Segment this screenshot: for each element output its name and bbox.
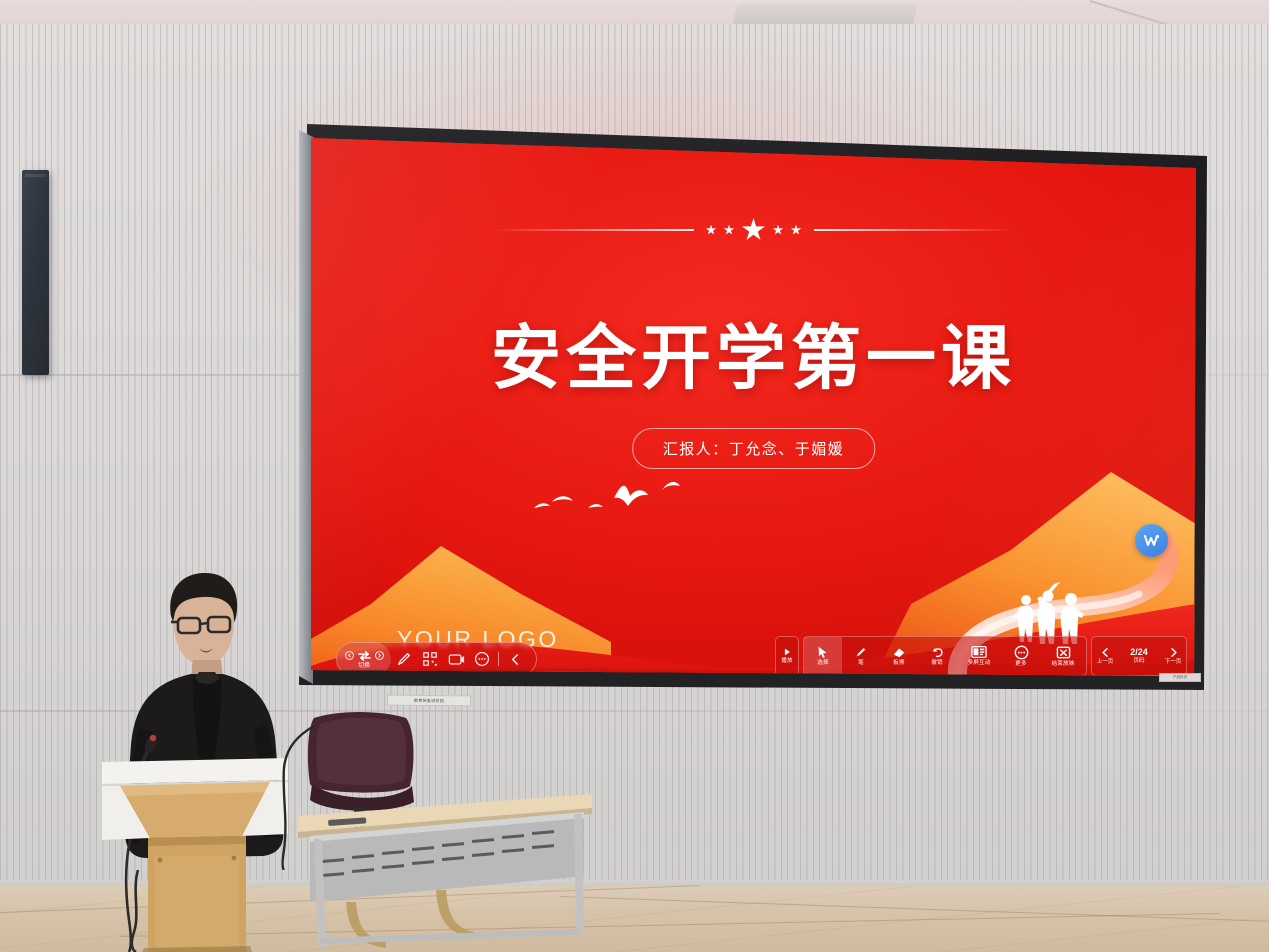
eraser-icon: [892, 645, 907, 659]
star-icon: [724, 225, 735, 236]
tool-undo-label: 撤销: [931, 661, 942, 667]
page-number: 2/24: [1130, 648, 1148, 657]
more-icon[interactable]: [469, 642, 495, 676]
conference-desk: [296, 782, 594, 952]
toolbar-divider: [498, 652, 499, 666]
chevron-left-icon: [1100, 647, 1111, 658]
tool-multiscreen-label: 多屏互动: [968, 661, 991, 667]
display-screen[interactable]: 安全开学第一课 汇报人：丁允念、于媚媛 YOUR LOGO: [311, 138, 1196, 676]
wall-speaker: [22, 170, 49, 375]
play-button[interactable]: 播放: [776, 637, 798, 675]
pen-icon: [854, 645, 868, 659]
multiscreen-icon: [971, 645, 987, 659]
bezel-label-right: 产品标识: [1159, 673, 1201, 682]
floor-cable: [118, 870, 158, 952]
tools-panel[interactable]: 选择 笔 板擦: [803, 636, 1087, 676]
chevron-right-icon[interactable]: [375, 651, 384, 660]
page-indicator[interactable]: 2/24 页码: [1118, 637, 1160, 675]
star-divider: [311, 218, 1196, 242]
star-group: [706, 218, 802, 242]
app-logo-icon[interactable]: [1135, 524, 1168, 557]
app-glyph-icon: [1142, 531, 1162, 551]
slide-title: 安全开学第一课: [311, 302, 1196, 403]
swap-arrows-icon[interactable]: [357, 650, 372, 662]
tool-undo-button[interactable]: 撤销: [918, 637, 956, 675]
presentation-slide[interactable]: 安全开学第一课 汇报人：丁允念、于媚媛 YOUR LOGO: [311, 138, 1196, 676]
next-page-button[interactable]: 下一页: [1160, 637, 1186, 675]
slide-subtitle-pill: 汇报人：丁允念、于媚媛: [632, 428, 876, 469]
chair-cable: [270, 720, 318, 870]
tool-eraser-label: 板擦: [893, 661, 904, 667]
page-indicator-label: 页码: [1133, 659, 1144, 665]
switch-source-label: 切换: [358, 663, 370, 669]
chevron-right-icon: [1168, 647, 1179, 658]
tool-select-label: 选择: [817, 661, 828, 667]
more-icon: [1014, 645, 1029, 660]
play-panel[interactable]: 播放: [775, 636, 799, 676]
play-icon: [782, 647, 792, 657]
play-label: 播放: [781, 659, 792, 665]
chevron-left-icon[interactable]: [345, 651, 354, 660]
tool-more-label: 更多: [1015, 662, 1026, 668]
prev-page-button[interactable]: 上一页: [1092, 637, 1118, 675]
end-show-icon: [1056, 645, 1071, 660]
tool-select-button[interactable]: 选择: [804, 637, 842, 675]
prev-page-label: 上一页: [1097, 660, 1114, 666]
page-nav-panel[interactable]: 上一页 2/24 页码 下一页: [1091, 636, 1187, 676]
divider-line-right: [814, 229, 1014, 231]
interactive-display[interactable]: 安全开学第一课 汇报人：丁允念、于媚媛 YOUR LOGO: [299, 124, 1207, 690]
star-icon-large: [742, 218, 766, 242]
undo-icon: [930, 645, 945, 659]
tool-eraser-button[interactable]: 板擦: [880, 637, 918, 675]
bezel-label-left: 教育装备进校园: [387, 695, 471, 707]
tool-end-show-label: 结束放映: [1052, 662, 1075, 668]
divider-line-left: [494, 229, 694, 231]
collapse-icon[interactable]: [502, 642, 528, 676]
tool-multiscreen-button[interactable]: 多屏互动: [956, 637, 1002, 675]
screenshot-icon[interactable]: [443, 642, 469, 676]
tool-end-show-button[interactable]: 结束放映: [1040, 637, 1086, 675]
cursor-icon: [816, 645, 830, 659]
ceiling-vent: [732, 4, 917, 26]
conference-room: 安全开学第一课 汇报人：丁允念、于媚媛 YOUR LOGO: [0, 0, 1269, 952]
star-icon: [706, 225, 717, 236]
slide-birds: [526, 472, 706, 532]
star-icon: [773, 225, 784, 236]
presenter-toolbar[interactable]: 播放 选择: [775, 636, 1187, 676]
next-page-label: 下一页: [1165, 660, 1182, 666]
star-icon: [791, 225, 802, 236]
tool-more-button[interactable]: 更多: [1002, 637, 1040, 675]
tool-pen-label: 笔: [858, 661, 864, 667]
tool-pen-button[interactable]: 笔: [842, 637, 880, 675]
